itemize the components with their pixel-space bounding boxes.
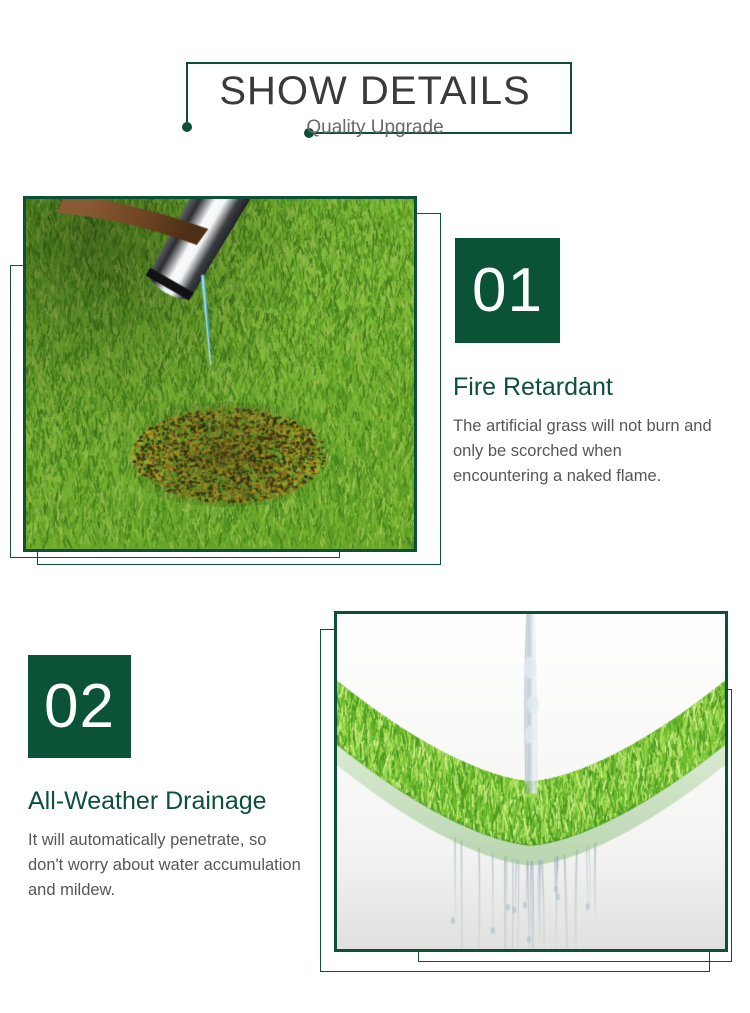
- page-title: SHOW DETAILS: [0, 68, 750, 114]
- page-header: SHOW DETAILS Quality Upgrade: [0, 0, 750, 170]
- feature-2-number-badge: 02: [28, 655, 131, 758]
- feature-1-title: Fire Retardant: [453, 372, 613, 402]
- bracket-top-rule: [186, 62, 572, 64]
- feature-2-title: All-Weather Drainage: [28, 786, 267, 816]
- page-subtitle: Quality Upgrade: [0, 116, 750, 140]
- feature-2-image: [334, 611, 728, 952]
- feature-1-image: [23, 196, 417, 552]
- feature-2-description: It will automatically penetrate, so don'…: [28, 828, 306, 903]
- feature-1-description: The artificial grass will not burn and o…: [453, 414, 721, 489]
- feature-1-number-badge: 01: [455, 238, 560, 343]
